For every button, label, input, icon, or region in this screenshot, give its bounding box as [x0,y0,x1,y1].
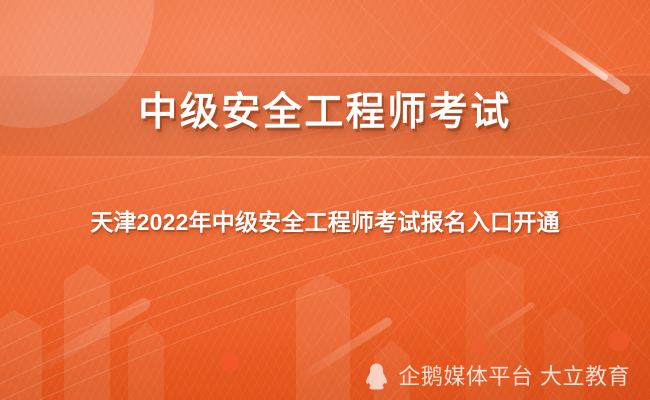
watermark: 企鹅媒体平台 大立教育 [364,363,630,391]
skyline-pillar [0,326,42,400]
headline-container: 中级安全工程师考试 [0,93,650,132]
promo-banner: 中级安全工程师考试 天津2022年中级安全工程师考试报名入口开通 企鹅媒体平台 … [0,0,650,400]
watermark-label: 企鹅媒体平台 大立教育 [398,366,630,388]
skyline-pillar [64,280,110,400]
accent-dot [471,338,486,353]
subheadline-container: 天津2022年中级安全工程师考试报名入口开通 [0,210,650,235]
qq-penguin-icon [364,363,389,391]
accent-dot [608,330,629,351]
page-subtitle: 天津2022年中级安全工程师考试报名入口开通 [90,210,560,235]
accent-dot [220,353,239,372]
skyline-pillar [296,290,350,400]
skyline-pillar [128,338,164,400]
page-title: 中级安全工程师考试 [138,93,512,132]
